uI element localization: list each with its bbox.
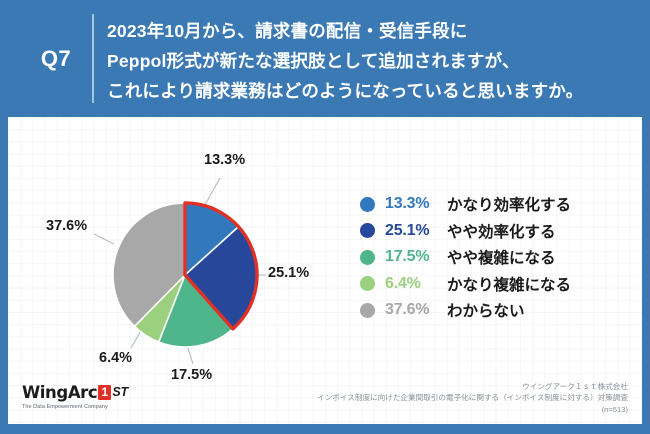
pie-value-label-3: 6.4% — [99, 350, 132, 366]
source-note-line-2: インボイス制度に向けた企業間取引の電子化に関する（インボイス制度に対する）対策調… — [317, 392, 628, 404]
legend-label: わからない — [447, 299, 525, 321]
pie-value-label-4: 37.6% — [46, 218, 87, 234]
legend-color-swatch-icon — [360, 303, 375, 318]
question-number: Q7 — [28, 46, 84, 72]
legend-label: やや効率化する — [447, 220, 556, 242]
pie-chart: 13.3% 25.1% 17.5% 6.4% 37.6% — [8, 117, 368, 424]
legend-item: 25.1% やや効率化する — [360, 218, 630, 245]
header-divider — [92, 14, 94, 103]
legend-label: やや複雑になる — [447, 246, 556, 268]
source-note-line-1: ウイングアーク１ｓｔ株式会社 — [317, 381, 628, 393]
legend-percent: 25.1% — [385, 222, 447, 240]
legend-color-swatch-icon — [360, 276, 375, 291]
logo-badge-icon: 1 — [98, 385, 111, 400]
legend-color-swatch-icon — [360, 197, 375, 212]
legend-item: 17.5% やや複雑になる — [360, 244, 630, 271]
legend-percent: 6.4% — [385, 275, 447, 293]
legend-percent: 37.6% — [385, 301, 447, 319]
logo-suffix: ST — [112, 385, 128, 399]
legend-color-swatch-icon — [360, 250, 375, 265]
wingarc-logo: WingArc 1 ST The Data Empowerment Compan… — [22, 383, 202, 410]
chart-legend: 13.3% かなり効率化する 25.1% やや効率化する 17.5% やや複雑に… — [360, 191, 630, 324]
legend-percent: 13.3% — [385, 195, 447, 213]
logo-wordmark: WingArc — [22, 383, 97, 402]
question-line-1: 2023年10月から、請求書の配信・受信手段に — [107, 16, 637, 46]
legend-label: かなり効率化する — [447, 193, 571, 215]
pie-value-label-1: 25.1% — [268, 265, 309, 281]
question-line-2: Peppol形式が新たな選択肢として追加されますが、 — [107, 46, 637, 76]
source-note: ウイングアーク１ｓｔ株式会社 インボイス制度に向けた企業間取引の電子化に関する（… — [317, 381, 628, 416]
question-header: Q7 2023年10月から、請求書の配信・受信手段に Peppol形式が新たな選… — [0, 0, 650, 117]
source-note-line-3: (n=513) — [317, 404, 628, 416]
pie-value-label-2: 17.5% — [171, 367, 212, 383]
slide-root: Q7 2023年10月から、請求書の配信・受信手段に Peppol形式が新たな選… — [0, 0, 650, 434]
content-panel: 13.3% 25.1% 17.5% 6.4% 37.6% 13.3% かなり効率… — [8, 117, 642, 424]
legend-color-swatch-icon — [360, 223, 375, 238]
pie-value-label-0: 13.3% — [204, 152, 245, 168]
logo-lockup: WingArc 1 ST — [22, 383, 202, 401]
question-text: 2023年10月から、請求書の配信・受信手段に Peppol形式が新たな選択肢と… — [107, 16, 637, 106]
legend-item: 6.4% かなり複雑になる — [360, 271, 630, 298]
legend-item: 37.6% わからない — [360, 297, 630, 324]
legend-item: 13.3% かなり効率化する — [360, 191, 630, 218]
question-line-3: これにより請求業務はどのようになっていると思いますか。 — [107, 76, 637, 106]
legend-label: かなり複雑になる — [447, 273, 571, 295]
logo-tagline: The Data Empowerment Company — [22, 404, 202, 410]
legend-percent: 17.5% — [385, 248, 447, 266]
